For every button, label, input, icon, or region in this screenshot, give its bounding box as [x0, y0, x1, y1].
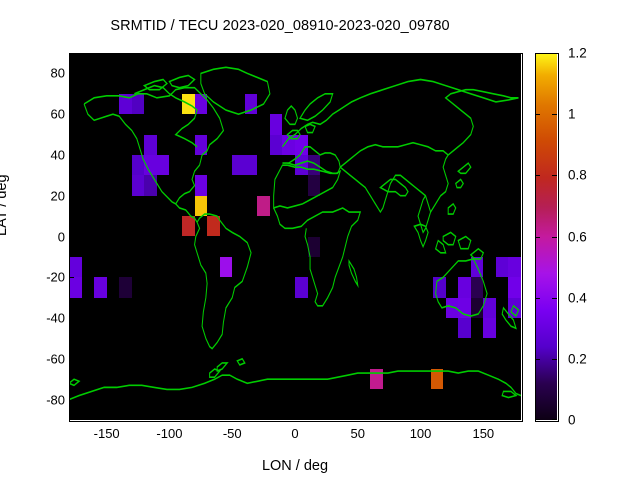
y-tick-label: -40	[25, 311, 65, 326]
colorbar-tick-mark	[535, 419, 540, 420]
x-tick-mark	[107, 415, 108, 420]
y-tick-mark	[69, 400, 74, 401]
x-tick-label: 100	[391, 426, 451, 441]
y-tick-label: 20	[25, 188, 65, 203]
colorbar-tick-mark	[535, 53, 540, 54]
x-tick-mark	[169, 415, 170, 420]
x-tick-label: -150	[77, 426, 137, 441]
colorbar-tick-mark	[535, 298, 540, 299]
colorbar-ticks: 00.20.40.60.811.2	[560, 53, 630, 420]
y-tick-mark	[69, 277, 74, 278]
y-axis-ticks: 806040200-20-40-60-80	[20, 53, 65, 420]
y-tick-label: 60	[25, 107, 65, 122]
colorbar-tick-label: 1	[568, 107, 576, 122]
x-tick-mark	[295, 415, 296, 420]
x-axis-label: LON / deg	[69, 458, 521, 474]
colorbar-tick-mark	[535, 359, 540, 360]
y-tick-label: -60	[25, 351, 65, 366]
colorbar-tick-mark	[535, 114, 540, 115]
y-tick-mark	[69, 359, 74, 360]
colorbar-tick-mark	[535, 237, 540, 238]
x-tick-label: 150	[453, 426, 513, 441]
y-tick-mark	[69, 196, 74, 197]
colorbar-tick-mark	[552, 53, 557, 54]
colorbar-tick-label: 0.6	[568, 229, 587, 244]
y-tick-mark	[69, 318, 74, 319]
chart-title: SRMTID / TECU 2023-020_08910-2023-020_09…	[0, 18, 560, 34]
colorbar-tick-mark	[552, 359, 557, 360]
colorbar-tick-mark	[552, 237, 557, 238]
colorbar-tick-label: 0.4	[568, 290, 587, 305]
y-tick-mark	[69, 114, 74, 115]
colorbar-tick-mark	[552, 114, 557, 115]
colorbar-tick-label: 0.2	[568, 351, 587, 366]
colorbar-tick-label: 1.2	[568, 46, 587, 61]
colorbar-tick-mark	[535, 175, 540, 176]
y-tick-mark	[69, 73, 74, 74]
colorbar-tick-mark	[552, 175, 557, 176]
x-tick-label: 50	[328, 426, 388, 441]
y-tick-label: -80	[25, 392, 65, 407]
x-tick-label: -100	[139, 426, 199, 441]
x-tick-mark	[421, 415, 422, 420]
y-tick-label: 40	[25, 147, 65, 162]
x-axis-ticks: -150-100-50050100150	[69, 426, 521, 446]
colorbar-tick-label: 0	[568, 413, 576, 428]
x-tick-mark	[358, 415, 359, 420]
x-tick-mark	[232, 415, 233, 420]
colorbar-tick-mark	[552, 419, 557, 420]
colorbar-tick-mark	[552, 298, 557, 299]
map-plot-area	[69, 53, 521, 420]
y-tick-label: 80	[25, 66, 65, 81]
x-tick-label: -50	[202, 426, 262, 441]
plot-window: SRMTID / TECU 2023-020_08910-2023-020_09…	[0, 0, 640, 480]
coastline-layer	[69, 53, 521, 420]
colorbar-tick-label: 0.8	[568, 168, 587, 183]
x-tick-label: 0	[265, 426, 325, 441]
y-tick-label: -20	[25, 270, 65, 285]
x-tick-mark	[483, 415, 484, 420]
y-tick-label: 0	[25, 229, 65, 244]
y-axis-label: LAT / deg	[0, 174, 10, 236]
y-tick-mark	[69, 237, 74, 238]
y-tick-mark	[69, 155, 74, 156]
